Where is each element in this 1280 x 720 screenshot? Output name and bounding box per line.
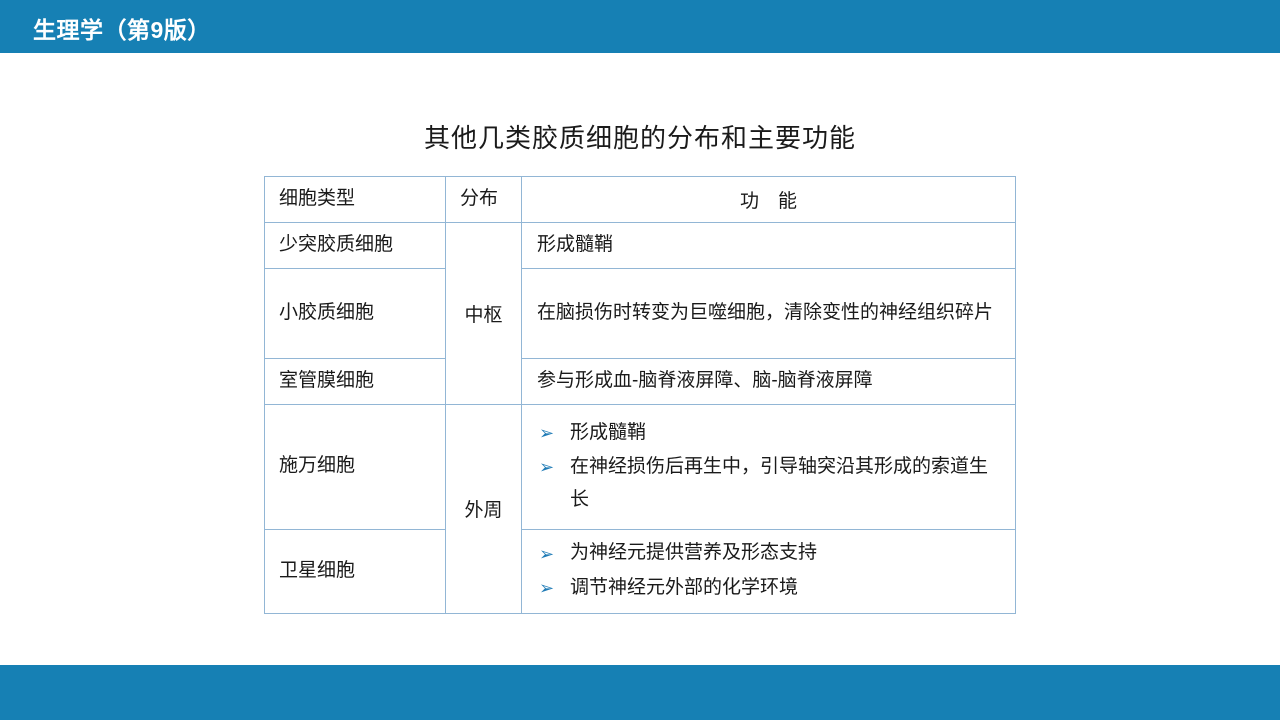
arrow-bullet-icon: ➢ — [539, 418, 554, 449]
glial-cells-table: 细胞类型 分布 功 能 少突胶质细胞 中枢 形成髓鞘 小胶质细胞 — [264, 176, 1016, 614]
arrow-bullet-icon: ➢ — [539, 573, 554, 604]
table-row: 卫星细胞 ➢ 为神经元提供营养及形态支持 ➢ 调节神经元外部的化学环境 — [265, 529, 1016, 613]
book-title: 生理学（第9版） — [33, 11, 211, 45]
cell-type-label: 卫星细胞 — [265, 549, 445, 594]
cell-type: 室管膜细胞 — [265, 358, 446, 404]
cell-distribution-label: 中枢 — [446, 300, 521, 327]
header-cell-distribution-label: 分布 — [446, 177, 521, 222]
table-header-row: 细胞类型 分布 功 能 — [265, 177, 1016, 223]
cell-distribution-central: 中枢 — [446, 222, 522, 404]
list-item-label: 调节神经元外部的化学环境 — [570, 577, 798, 598]
list-item: ➢ 调节神经元外部的化学环境 — [537, 572, 1003, 605]
cell-distribution-peripheral: 外周 — [446, 404, 522, 613]
list-item: ➢ 在神经损伤后再生中，引导轴突沿其形成的索道生长 — [537, 451, 1003, 516]
cell-function-text: 参与形成血-脑脊液屏障、脑-脑脊液屏障 — [522, 359, 1015, 404]
banner-underline — [0, 53, 1280, 56]
table-row: 施万细胞 外周 ➢ 形成髓鞘 ➢ 在神经损伤后再生中，引导轴突沿其形成的索道生长 — [265, 404, 1016, 529]
table-row: 小胶质细胞 在脑损伤时转变为巨噬细胞，清除变性的神经组织碎片 — [265, 268, 1016, 358]
table-row: 室管膜细胞 参与形成血-脑脊液屏障、脑-脑脊液屏障 — [265, 358, 1016, 404]
bottom-banner — [0, 665, 1280, 720]
cell-type-label: 小胶质细胞 — [265, 291, 445, 336]
arrow-bullet-icon: ➢ — [539, 452, 554, 483]
list-item: ➢ 形成髓鞘 — [537, 417, 1003, 450]
arrow-bullet-icon: ➢ — [539, 539, 554, 570]
list-item-label: 在神经损伤后再生中，引导轴突沿其形成的索道生长 — [570, 456, 988, 510]
list-item-label: 形成髓鞘 — [570, 422, 646, 443]
cell-type: 少突胶质细胞 — [265, 222, 446, 268]
cell-type: 施万细胞 — [265, 404, 446, 529]
list-item-label: 为神经元提供营养及形态支持 — [570, 542, 817, 563]
top-banner: 生理学（第9版） — [0, 0, 1280, 53]
cell-function-text: 在脑损伤时转变为巨噬细胞，清除变性的神经组织碎片 — [522, 291, 1015, 336]
cell-function: 在脑损伤时转变为巨噬细胞，清除变性的神经组织碎片 — [522, 268, 1016, 358]
cell-function: 参与形成血-脑脊液屏障、脑-脑脊液屏障 — [522, 358, 1016, 404]
cell-type: 小胶质细胞 — [265, 268, 446, 358]
cell-function: ➢ 为神经元提供营养及形态支持 ➢ 调节神经元外部的化学环境 — [522, 529, 1016, 613]
cell-function-text: 形成髓鞘 — [522, 223, 1015, 268]
cell-function: 形成髓鞘 — [522, 222, 1016, 268]
header-cell-function-label: 功 能 — [522, 179, 1015, 220]
cell-distribution-label: 外周 — [446, 495, 521, 522]
table-row: 少突胶质细胞 中枢 形成髓鞘 — [265, 222, 1016, 268]
cell-type-label: 室管膜细胞 — [265, 359, 445, 404]
cell-function: ➢ 形成髓鞘 ➢ 在神经损伤后再生中，引导轴突沿其形成的索道生长 — [522, 404, 1016, 529]
header-cell-type-label: 细胞类型 — [265, 177, 445, 222]
page-title: 其他几类胶质细胞的分布和主要功能 — [0, 118, 1280, 155]
function-bullet-list: ➢ 为神经元提供营养及形态支持 ➢ 调节神经元外部的化学环境 — [537, 537, 1003, 604]
cell-type: 卫星细胞 — [265, 529, 446, 613]
cell-type-label: 少突胶质细胞 — [265, 223, 445, 268]
function-bullet-list: ➢ 形成髓鞘 ➢ 在神经损伤后再生中，引导轴突沿其形成的索道生长 — [537, 417, 1003, 517]
list-item: ➢ 为神经元提供营养及形态支持 — [537, 537, 1003, 570]
header-cell-distribution: 分布 — [446, 177, 522, 223]
header-cell-type: 细胞类型 — [265, 177, 446, 223]
header-cell-function: 功 能 — [522, 177, 1016, 223]
cell-type-label: 施万细胞 — [265, 444, 445, 489]
